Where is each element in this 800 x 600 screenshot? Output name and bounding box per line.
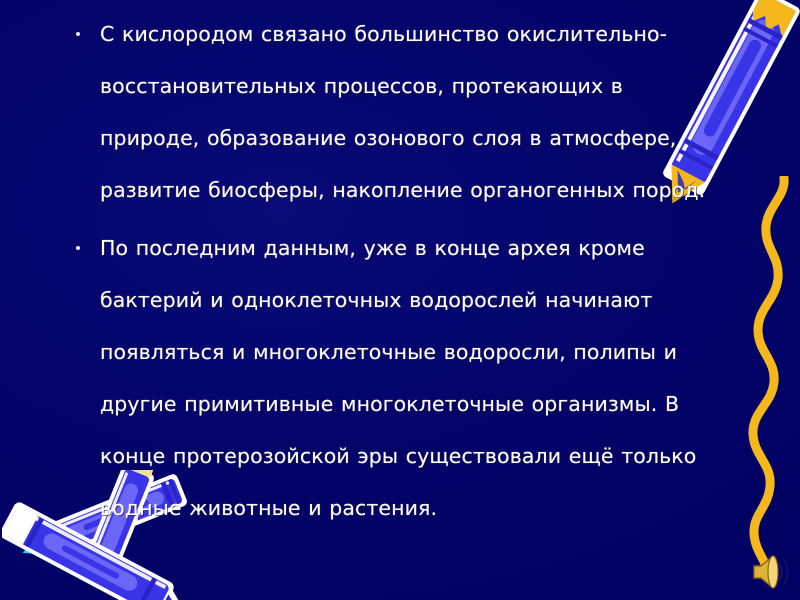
yellow-squiggle-line [734, 176, 798, 566]
bullet-paragraph-1-text: С кислородом связано большинство окислит… [100, 8, 722, 216]
bullet-marker [76, 32, 80, 36]
bullet-paragraph-2-text: По последним данным, уже в конце архея к… [100, 222, 722, 534]
speaker-icon[interactable] [748, 548, 794, 594]
bullet-paragraph-2: По последним данным, уже в конце архея к… [62, 222, 722, 534]
bullet-marker [76, 246, 80, 250]
bullet-paragraph-1: С кислородом связано большинство окислит… [62, 8, 722, 216]
presentation-slide: С кислородом связано большинство окислит… [0, 0, 800, 600]
slide-body-text: С кислородом связано большинство окислит… [62, 8, 722, 540]
